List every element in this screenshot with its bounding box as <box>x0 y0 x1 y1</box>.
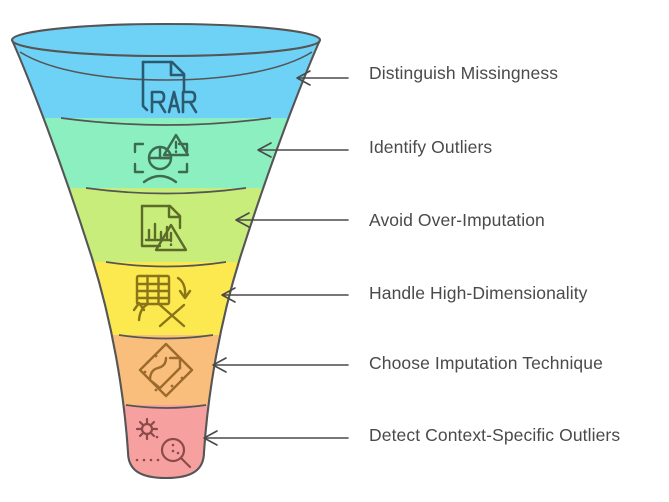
stage-label-6: Detect Context-Specific Outliers <box>369 427 620 445</box>
stage-label-1: Distinguish Missingness <box>369 65 558 83</box>
stage-label-5: Choose Imputation Technique <box>369 355 603 373</box>
stage-labels: Distinguish Missingness Identify Outlier… <box>0 0 669 502</box>
stage-label-2: Identify Outliers <box>369 139 492 157</box>
funnel-diagram-canvas: Distinguish Missingness Identify Outlier… <box>0 0 669 502</box>
stage-label-3: Avoid Over-Imputation <box>369 212 545 230</box>
stage-label-4: Handle High-Dimensionality <box>369 285 588 303</box>
